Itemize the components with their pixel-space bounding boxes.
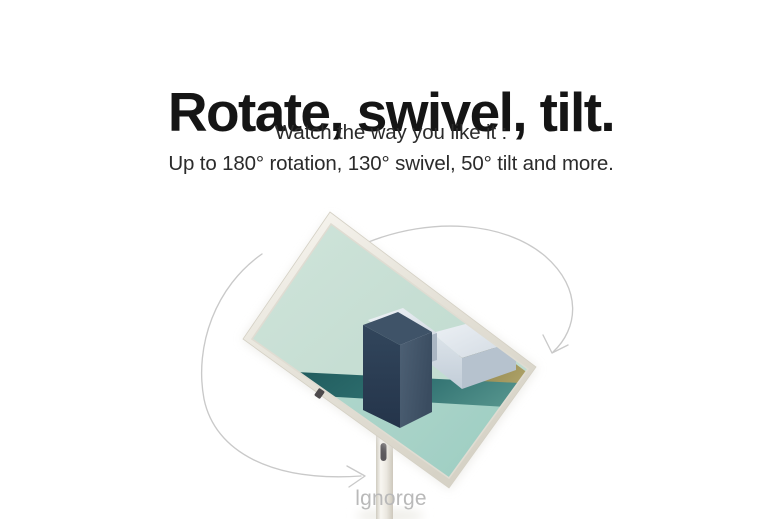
tv-panel <box>242 212 545 500</box>
stand-hinge-notch <box>381 443 387 461</box>
screen-block-dark <box>363 308 437 428</box>
product-illustration <box>0 0 782 519</box>
tv-illustration-svg <box>0 0 782 519</box>
promo-banner: Rotate, swivel, tilt. Watch the way you … <box>0 0 782 519</box>
